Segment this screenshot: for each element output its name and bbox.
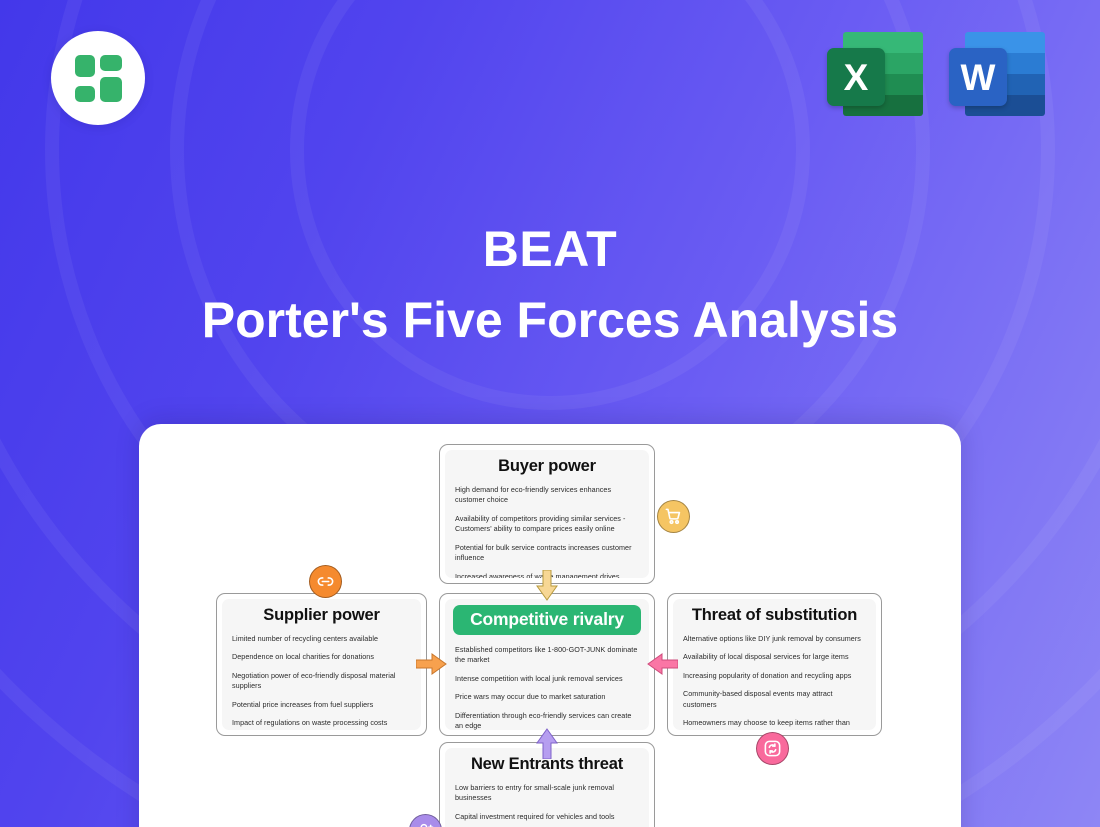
list-item: Increasing popularity of donation and re… xyxy=(683,671,866,681)
force-box-supplier-power[interactable]: Supplier power Limited number of recycli… xyxy=(216,593,427,736)
excel-icon[interactable]: X xyxy=(823,28,923,120)
list-item: Intense competition with local junk remo… xyxy=(455,674,639,684)
porters-five-forces-diagram: Buyer power High demand for eco-friendly… xyxy=(139,424,961,827)
force-list-buyer-power: High demand for eco-friendly services en… xyxy=(455,485,639,578)
export-icons: X W xyxy=(823,28,1045,120)
excel-letter: X xyxy=(827,48,885,106)
list-item: Capital investment required for vehicles… xyxy=(455,812,639,822)
force-box-competitive-rivalry[interactable]: Competitive rivalry Established competit… xyxy=(439,593,655,736)
grid-squares-logo-icon xyxy=(75,55,122,102)
force-list-competitive-rivalry: Established competitors like 1-800-GOT-J… xyxy=(455,645,639,730)
arrow-supplier-to-rivalry-icon xyxy=(416,653,447,675)
force-list-new-entrants-threat: Low barriers to entry for small-scale ju… xyxy=(455,783,639,827)
force-title-competitive-rivalry: Competitive rivalry xyxy=(453,605,641,635)
force-title-buyer-power: Buyer power xyxy=(455,457,639,476)
arrow-buyer-to-rivalry-icon xyxy=(536,570,558,601)
force-title-supplier-power: Supplier power xyxy=(232,606,411,625)
list-item: Price wars may occur due to market satur… xyxy=(455,692,639,702)
arrow-entrants-to-rivalry-icon xyxy=(536,728,558,759)
force-title-threat-of-substitution: Threat of substitution xyxy=(683,606,866,625)
decorative-arc xyxy=(290,0,810,410)
list-item: Availability of local disposal services … xyxy=(683,652,866,662)
list-item: Dependence on local charities for donati… xyxy=(232,652,411,662)
list-item: Low barriers to entry for small-scale ju… xyxy=(455,783,639,804)
shopping-cart-icon[interactable] xyxy=(657,500,690,533)
list-item: Potential price increases from fuel supp… xyxy=(232,700,411,710)
arrow-substitution-to-rivalry-icon xyxy=(647,653,678,675)
page-title: BEAT Porter's Five Forces Analysis xyxy=(0,222,1100,348)
list-item: Impact of regulations on waste processin… xyxy=(232,718,411,728)
list-item: Homeowners may choose to keep items rath… xyxy=(683,718,866,730)
list-item: Established competitors like 1-800-GOT-J… xyxy=(455,645,639,666)
list-item: Alternative options like DIY junk remova… xyxy=(683,634,866,644)
list-item: Limited number of recycling centers avai… xyxy=(232,634,411,644)
list-item: Potential for bulk service contracts inc… xyxy=(455,543,639,564)
word-icon[interactable]: W xyxy=(945,28,1045,120)
force-box-buyer-power[interactable]: Buyer power High demand for eco-friendly… xyxy=(439,444,655,584)
add-person-icon[interactable] xyxy=(409,814,442,827)
title-line-2: Porter's Five Forces Analysis xyxy=(0,293,1100,348)
list-item: Negotiation power of eco-friendly dispos… xyxy=(232,671,411,692)
slide-canvas: X W BEAT Porter's Five Forces Analysis B… xyxy=(0,0,1100,827)
diagram-board: Buyer power High demand for eco-friendly… xyxy=(139,424,961,827)
sync-icon[interactable] xyxy=(756,732,789,765)
force-list-threat-of-substitution: Alternative options like DIY junk remova… xyxy=(683,634,866,730)
list-item: High demand for eco-friendly services en… xyxy=(455,485,639,506)
force-list-supplier-power: Limited number of recycling centers avai… xyxy=(232,634,411,729)
word-letter: W xyxy=(949,48,1007,106)
list-item: Community-based disposal events may attr… xyxy=(683,689,866,710)
title-line-1: BEAT xyxy=(0,222,1100,277)
force-box-threat-of-substitution[interactable]: Threat of substitution Alternative optio… xyxy=(667,593,882,736)
list-item: Availability of competitors providing si… xyxy=(455,514,639,535)
brand-logo[interactable] xyxy=(51,31,145,125)
link-icon[interactable] xyxy=(309,565,342,598)
